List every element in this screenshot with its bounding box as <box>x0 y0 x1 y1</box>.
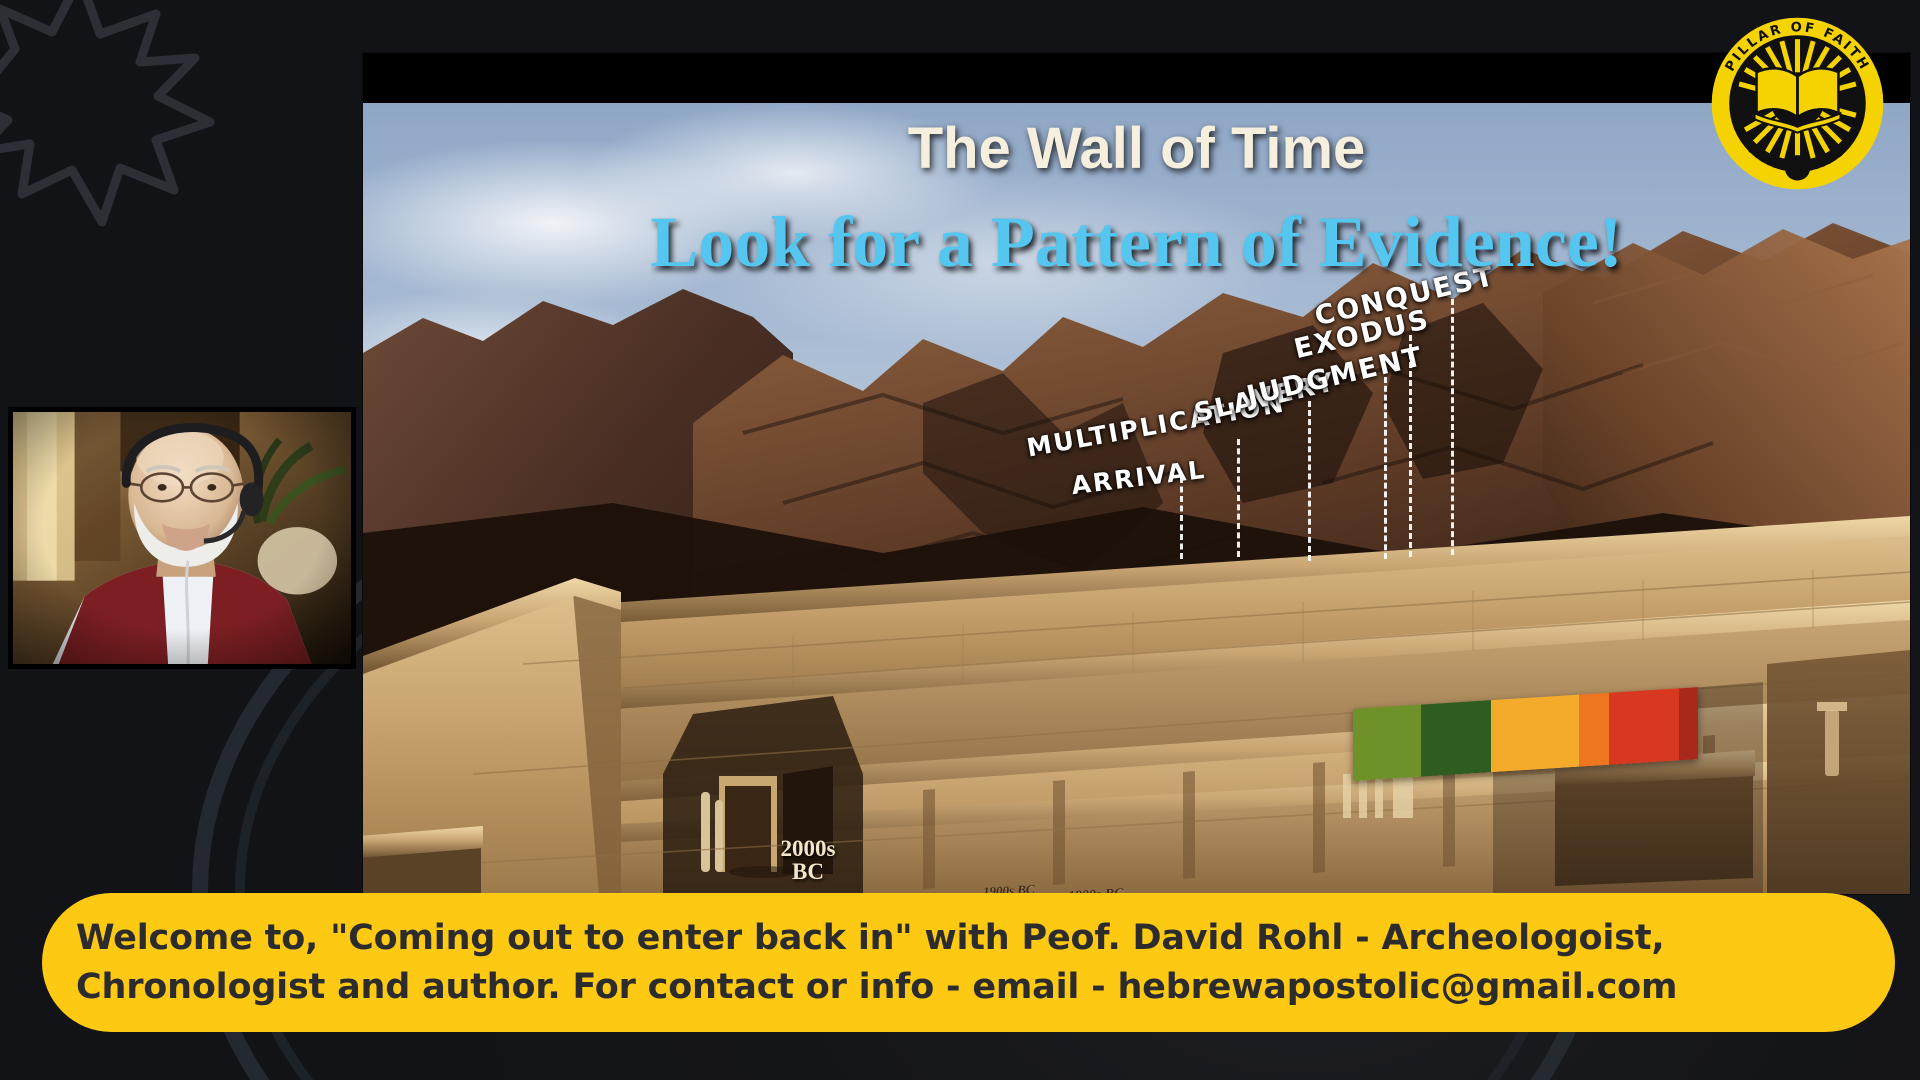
leader-line-judgment <box>1384 377 1387 559</box>
leader-line-conquest <box>1451 299 1454 555</box>
leader-line-multiplication <box>1237 439 1240 557</box>
event-label-arrival: ARRIVAL <box>1070 455 1208 500</box>
pillar-of-faith-ministries-logo: PILLAR OF FAITH MINISTRIES <box>1700 6 1895 201</box>
slide-subtitle: Look for a Pattern of Evidence! <box>363 201 1910 284</box>
presenter-webcam-tile[interactable] <box>8 407 356 669</box>
caption-line-2: Chronologist and author. For contact or … <box>76 963 1677 1011</box>
slide-title: The Wall of Time <box>363 115 1910 182</box>
slide-letterbox <box>363 53 1910 103</box>
caption-text-block: Welcome to, "Coming out to enter back in… <box>76 914 1677 1011</box>
caption-line-1: Welcome to, "Coming out to enter back in… <box>76 914 1677 962</box>
leader-line-arrival <box>1180 477 1183 559</box>
background-starburst-decoration <box>0 0 390 284</box>
presenter-video-feed <box>13 412 351 664</box>
leader-line-slavery <box>1308 401 1311 561</box>
leader-line-exodus <box>1409 335 1412 557</box>
live-caption-banner: Welcome to, "Coming out to enter back in… <box>42 893 1895 1032</box>
shared-slide[interactable]: ARRIVALMULTIPLICATIONSLAVERYJUDGMENTEXOD… <box>363 53 1910 894</box>
screen-share-stage: ARRIVALMULTIPLICATIONSLAVERYJUDGMENTEXOD… <box>0 0 1920 1080</box>
